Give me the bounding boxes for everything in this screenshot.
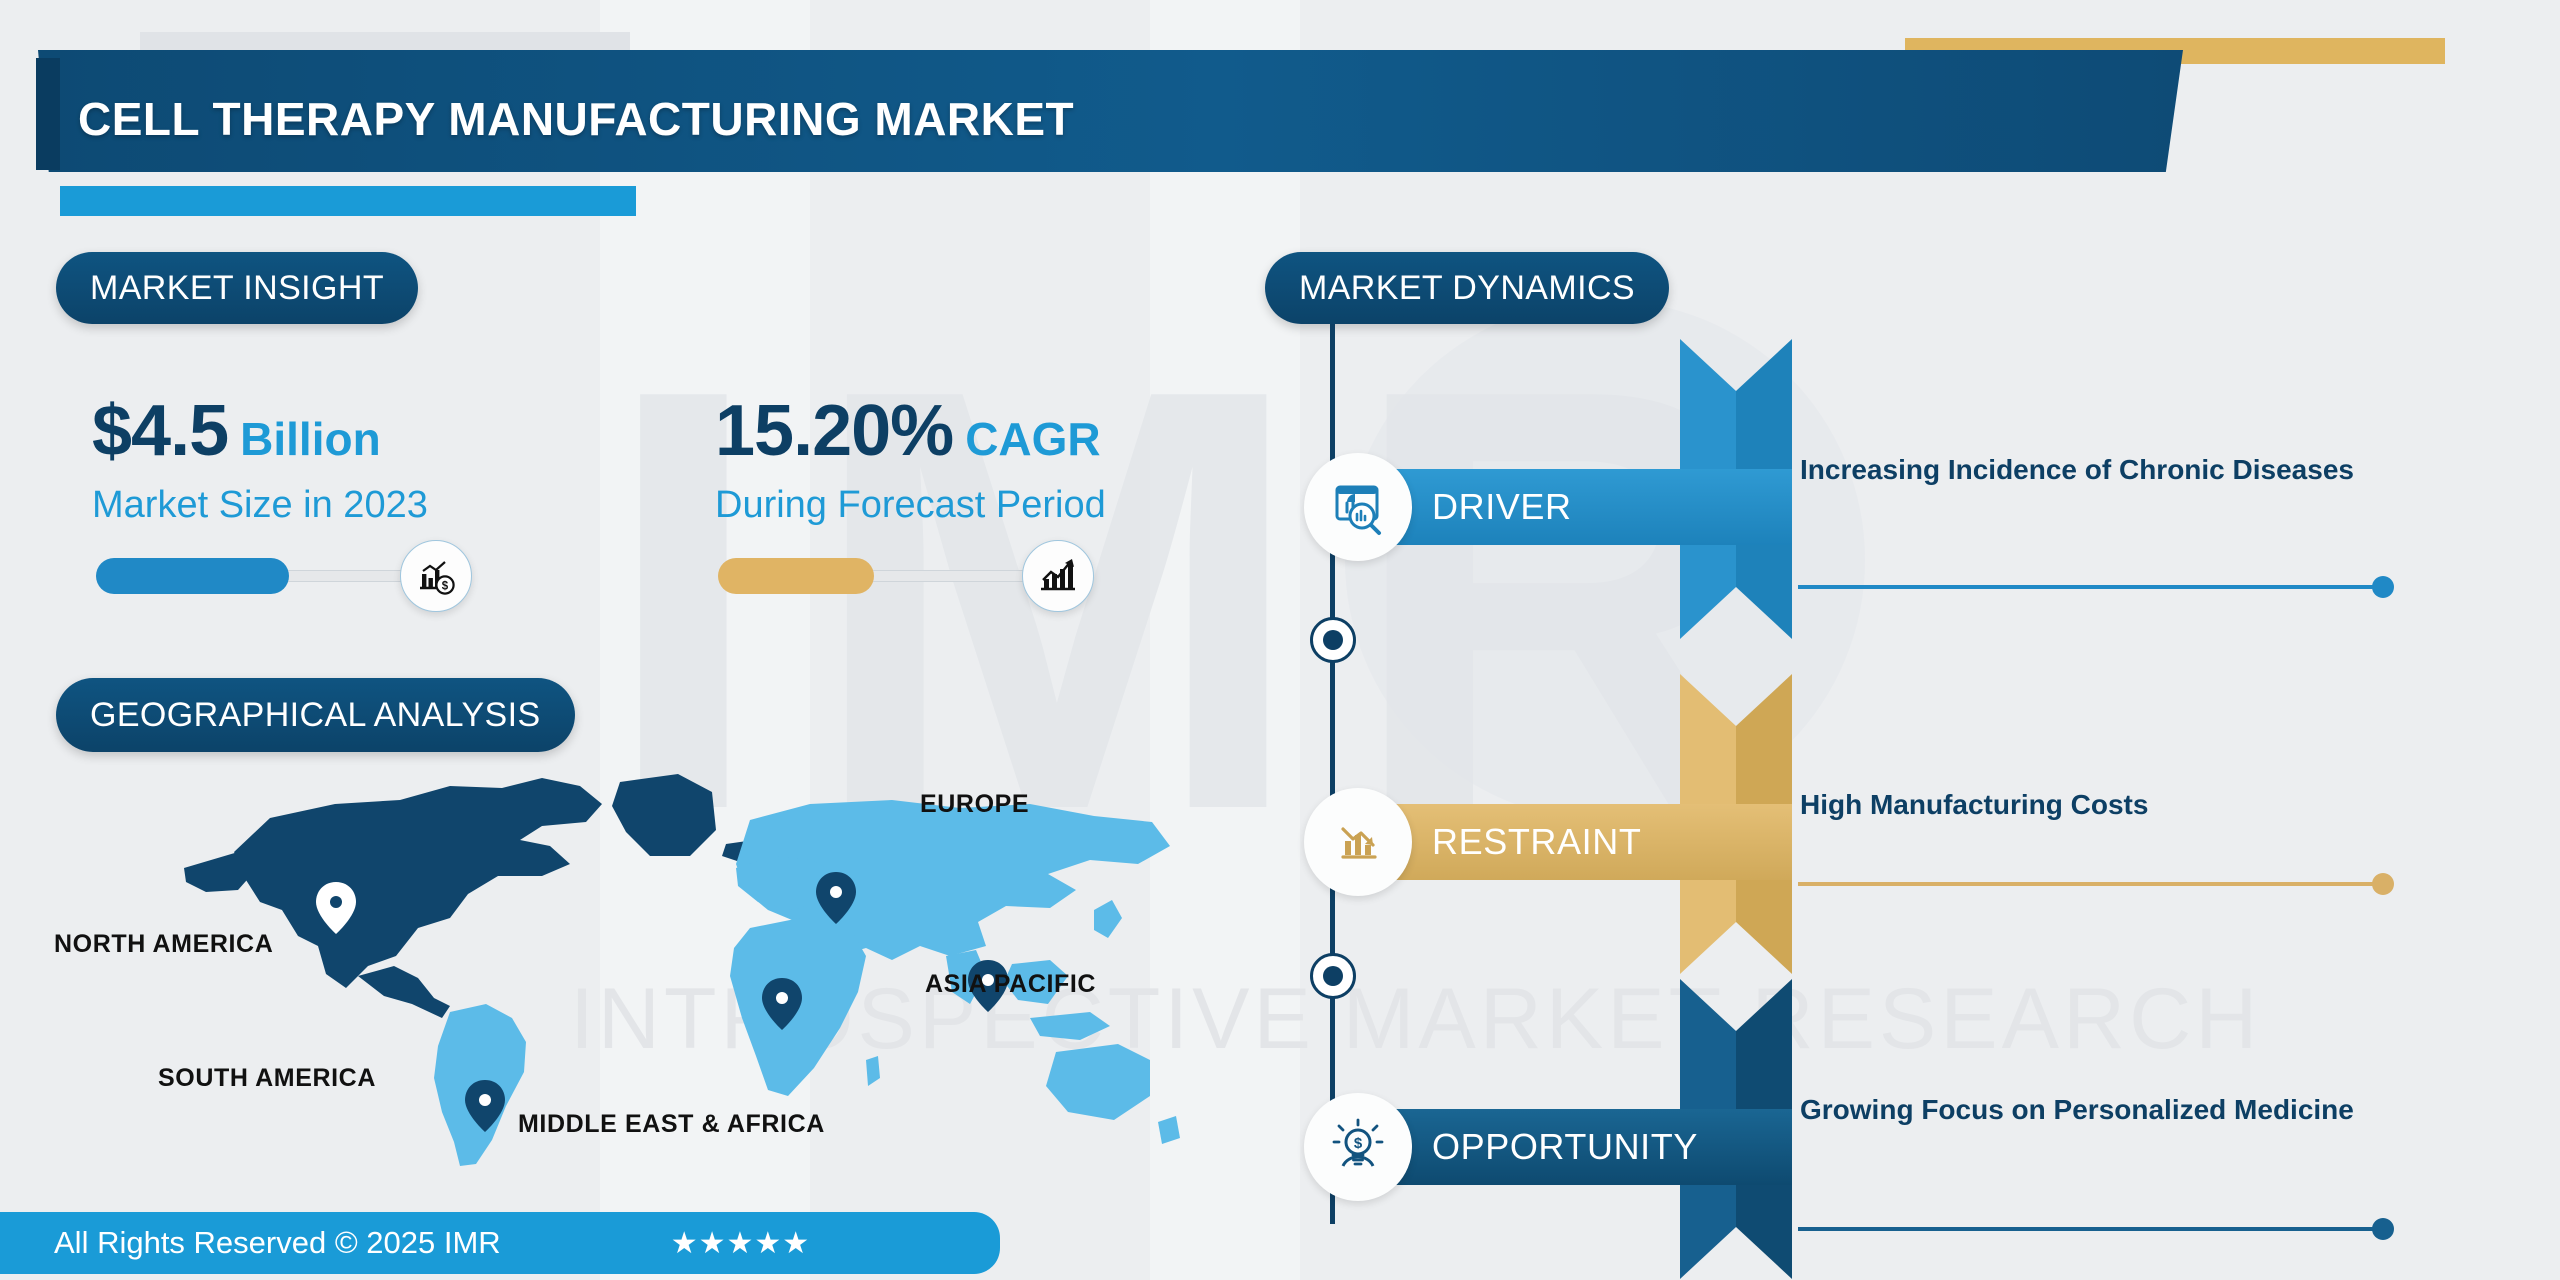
opportunity-underline-knob bbox=[2372, 1218, 2394, 1240]
driver-description: Increasing Incidence of Chronic Diseases bbox=[1800, 451, 2400, 489]
restraint-underline-knob bbox=[2372, 873, 2394, 895]
driver-label: DRIVER bbox=[1432, 486, 1572, 528]
svg-text:$: $ bbox=[442, 580, 449, 592]
infographic-canvas: IMR INTROSPECTIVE MARKET RESEARCH CELL T… bbox=[0, 0, 2560, 1280]
dynamics-row-restraint: RESTRAINT High Manufacturing Costs bbox=[1290, 690, 2560, 990]
opportunity-bar[interactable]: $ OPPORTUNITY bbox=[1332, 1109, 1792, 1185]
stat-cagr-value: 15.20% bbox=[715, 390, 953, 472]
map-region-indonesia bbox=[1030, 1012, 1110, 1040]
driver-underline bbox=[1798, 585, 2386, 589]
stat-cagr-unit: CAGR bbox=[965, 412, 1100, 466]
stat-market-size-value: $4.5 bbox=[92, 390, 228, 472]
dynamics-row-opportunity: $ OPPORTUNITY Growing Focus on Personali… bbox=[1290, 995, 2560, 1280]
section-pill-market-dynamics: MARKET DYNAMICS bbox=[1265, 252, 1669, 324]
map-label-europe: EUROPE bbox=[920, 790, 1029, 819]
driver-bar[interactable]: DRIVER bbox=[1332, 469, 1792, 545]
declining-chart-icon bbox=[1304, 788, 1412, 896]
header-left-flag bbox=[36, 58, 60, 170]
growth-arrow-chart-icon bbox=[1022, 540, 1094, 612]
restraint-description: High Manufacturing Costs bbox=[1800, 786, 2400, 824]
map-region-north-america bbox=[234, 778, 602, 988]
restraint-bar[interactable]: RESTRAINT bbox=[1332, 804, 1792, 880]
stat-market-size-progress: $ bbox=[96, 558, 408, 594]
map-region-madagascar bbox=[866, 1056, 880, 1086]
svg-text:$: $ bbox=[1354, 1135, 1363, 1152]
map-label-north-america: NORTH AMERICA bbox=[54, 930, 273, 959]
bar-chart-dollar-icon: $ bbox=[400, 540, 472, 612]
stat-market-size: $4.5Billion Market Size in 2023 bbox=[92, 390, 428, 527]
map-label-south-america: SOUTH AMERICA bbox=[158, 1064, 376, 1093]
section-pill-market-insight-label: MARKET INSIGHT bbox=[90, 269, 384, 308]
section-pill-geographical-analysis-label: GEOGRAPHICAL ANALYSIS bbox=[90, 696, 541, 735]
map-label-middle-east-africa: MIDDLE EAST & AFRICA bbox=[518, 1110, 825, 1139]
map-region-australia bbox=[1046, 1044, 1150, 1120]
footer-star-rating: ★★★★★ bbox=[671, 1226, 810, 1261]
opportunity-underline bbox=[1798, 1227, 2386, 1231]
map-region-greenland bbox=[612, 774, 716, 856]
stat-market-size-unit: Billion bbox=[240, 412, 381, 466]
page-title: CELL THERAPY MANUFACTURING MARKET bbox=[78, 92, 1074, 146]
dynamics-row-driver: DRIVER Increasing Incidence of Chronic D… bbox=[1290, 355, 2560, 655]
section-pill-market-insight: MARKET INSIGHT bbox=[56, 252, 418, 324]
lightbulb-dollar-icon: $ bbox=[1304, 1093, 1412, 1201]
map-region-central-america bbox=[358, 966, 450, 1018]
stat-cagr: 15.20%CAGR During Forecast Period bbox=[715, 390, 1106, 527]
restraint-label: RESTRAINT bbox=[1432, 821, 1641, 863]
stat-market-size-caption: Market Size in 2023 bbox=[92, 484, 428, 527]
progress-fill bbox=[96, 558, 289, 594]
header-shadow-strip bbox=[140, 32, 630, 50]
opportunity-description: Growing Focus on Personalized Medicine bbox=[1800, 1091, 2400, 1129]
stat-cagr-progress bbox=[718, 558, 1030, 594]
footer-copyright: All Rights Reserved © 2025 IMR bbox=[54, 1225, 501, 1261]
map-label-asia-pacific: ASIA PACIFIC bbox=[925, 970, 1096, 999]
opportunity-label: OPPORTUNITY bbox=[1432, 1126, 1698, 1168]
map-region-japan bbox=[1094, 900, 1122, 938]
footer-bar: All Rights Reserved © 2025 IMR ★★★★★ bbox=[0, 1212, 1000, 1274]
driver-underline-knob bbox=[2372, 576, 2394, 598]
restraint-underline bbox=[1798, 882, 2386, 886]
section-pill-geographical-analysis: GEOGRAPHICAL ANALYSIS bbox=[56, 678, 575, 752]
report-analysis-icon bbox=[1304, 453, 1412, 561]
progress-fill bbox=[718, 558, 874, 594]
map-region-new-zealand bbox=[1158, 1116, 1180, 1144]
header-blue-accent bbox=[60, 186, 636, 216]
stat-cagr-caption: During Forecast Period bbox=[715, 484, 1106, 527]
section-pill-market-dynamics-label: MARKET DYNAMICS bbox=[1299, 269, 1635, 308]
